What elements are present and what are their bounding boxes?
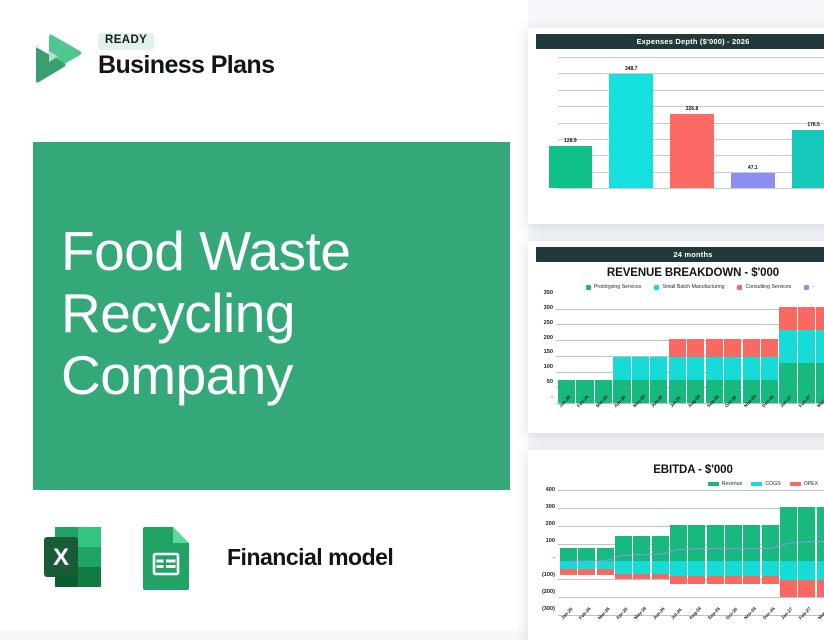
legend-item: Small Batch Manufacturing: [654, 284, 724, 290]
play-triangles-logo-icon: [28, 27, 85, 84]
legend-label: Small Batch Manufacturing: [662, 284, 724, 290]
legend-label: -: [812, 284, 814, 290]
bar: [609, 74, 653, 188]
bar-segment: [724, 339, 741, 358]
x-axis: Jan-26Feb-26Mar-26Apr-26May-26Jun-26Jul-…: [556, 403, 824, 429]
x-axis: Jan-26Feb-26Mar-26Apr-26May-26Jun-26Jul-…: [558, 615, 824, 640]
y-tick: 400: [534, 487, 558, 493]
chart-card-ebitda[interactable]: EBITDA - $'000 Revenue COGS OPEX 0 400: [528, 450, 824, 640]
bar-group: 226.8: [662, 57, 723, 188]
bar-stack: [558, 293, 575, 403]
legend-swatch-icon: [586, 285, 591, 290]
zero-trend-line: [558, 490, 824, 615]
legend-swatch-icon: [654, 285, 659, 290]
bar-segment: [798, 330, 815, 363]
bar-segment: [779, 330, 796, 363]
bar-label: 348.7: [625, 66, 638, 72]
y-axis: 350 300 250 200 150 100 50 -: [534, 293, 556, 403]
ebitda-plot: 400 300 200 100 - (100) (200) (300): [534, 490, 824, 615]
y-tick: 150: [534, 349, 556, 355]
revenue-legend: Prototyping Services Small Batch Manufac…: [528, 284, 824, 290]
chart-card-expenses-depth[interactable]: Expenses Depth ($'000) - 2026 128.9: [528, 28, 824, 224]
bar-segment: [687, 339, 704, 358]
bar-group: 176.5: [783, 57, 824, 188]
bar-stack: [816, 293, 824, 403]
bar-stack: [779, 293, 796, 403]
bar-label: 47.1: [748, 165, 758, 171]
bar-stack: [687, 293, 704, 403]
bar-stack: [613, 293, 630, 403]
bar-segment: [687, 357, 704, 379]
legend-swatch-icon: [790, 482, 801, 486]
bar-label: 128.9: [564, 138, 577, 144]
y-tick: 350: [534, 290, 556, 296]
bar-stack: [706, 293, 723, 403]
legend-swatch-icon: [737, 285, 742, 290]
bar-stack: [595, 293, 612, 403]
chart-card-revenue-breakdown[interactable]: 24 months REVENUE BREAKDOWN - $'000 Prot…: [528, 241, 824, 433]
bar-segment: [798, 307, 815, 330]
bar-segment: [669, 339, 686, 358]
y-tick: 200: [534, 335, 556, 341]
legend-label: Revenue: [722, 481, 743, 487]
bar-stack: [650, 293, 667, 403]
bar-label: 226.8: [686, 106, 699, 112]
bar-segment: [650, 357, 667, 379]
legend-label: Prototyping Services: [594, 284, 642, 290]
legend-label: OPEX: [804, 481, 818, 487]
bar-segment: [706, 357, 723, 379]
bar-label: 176.5: [807, 122, 820, 128]
y-tick: (100): [534, 572, 558, 578]
legend-label: Consulting Services: [745, 284, 791, 290]
expenses-bars: 128.9 348.7 226.8 47.1 176.5: [536, 57, 824, 188]
bar-segment: [669, 357, 686, 379]
bar-segment: [743, 357, 760, 379]
bar-segment: [724, 357, 741, 379]
bar-segment: [743, 339, 760, 358]
expenses-depth-plot: 128.9 348.7 226.8 47.1 176.5: [536, 57, 824, 188]
hero-block: Food Waste Recycling Company: [33, 142, 510, 490]
bar-stack: [743, 293, 760, 403]
legend-label: COGS: [765, 481, 780, 487]
bar: [792, 130, 824, 188]
bar: [549, 146, 593, 188]
legend-swatch-icon: [708, 482, 719, 486]
y-tick: (300): [534, 606, 558, 612]
footer-row: X Financial model: [33, 518, 393, 597]
ebitda-legend: Revenue COGS OPEX 0: [528, 481, 824, 487]
bar-stack: [798, 293, 815, 403]
bar-stack: [724, 293, 741, 403]
bar-group: 128.9: [540, 57, 601, 188]
y-tick: 100: [534, 364, 556, 370]
legend-item: COGS: [751, 481, 780, 487]
y-tick: 250: [534, 320, 556, 326]
bar-stack: [669, 293, 686, 403]
chart-title: EBITDA - $'000: [528, 464, 824, 476]
page-title: Food Waste Recycling Company: [61, 220, 490, 406]
y-tick: 100: [534, 538, 558, 544]
bar-segment: [816, 330, 824, 363]
bar: [731, 173, 775, 188]
legend-swatch-icon: [804, 285, 809, 290]
svg-text:X: X: [53, 544, 69, 571]
bar-stack: [632, 293, 649, 403]
microsoft-excel-icon: X: [33, 518, 112, 597]
y-tick: 300: [534, 504, 558, 510]
brand-text: READY Business Plans: [98, 33, 274, 78]
legend-item: Prototyping Services: [586, 284, 642, 290]
y-tick: 200: [534, 521, 558, 527]
y-tick: (200): [534, 589, 558, 595]
bar-segment: [761, 339, 778, 358]
chart-title: REVENUE BREAKDOWN - $'000: [528, 267, 824, 279]
bar-stack: [576, 293, 593, 403]
y-tick: 300: [534, 305, 556, 311]
bar-segment: [761, 357, 778, 379]
chart-title-bar: Expenses Depth ($'000) - 2026: [536, 34, 824, 49]
bar-stack: [761, 293, 778, 403]
revenue-bars: [556, 293, 824, 403]
legend-item: OPEX: [790, 481, 818, 487]
bar-group: 47.1: [722, 57, 783, 188]
ready-badge: READY: [98, 33, 154, 50]
bar-segment: [613, 357, 630, 379]
y-tick: -: [534, 555, 558, 561]
bar-segment: [816, 307, 824, 330]
legend-swatch-icon: [751, 482, 762, 486]
bar-group: 348.7: [601, 57, 662, 188]
legend-item: Consulting Services: [737, 284, 791, 290]
google-sheets-icon: [126, 518, 205, 597]
y-tick: -: [534, 394, 556, 400]
legend-item: -: [804, 284, 814, 290]
footer-label: Financial model: [227, 544, 393, 571]
brand-name: Business Plans: [98, 52, 274, 78]
y-tick: 50: [534, 379, 556, 385]
legend-item: Revenue: [708, 481, 743, 487]
months-header: 24 months: [536, 247, 824, 262]
brand-lockup: READY Business Plans: [28, 27, 274, 84]
y-axis: 400 300 200 100 - (100) (200) (300): [534, 490, 558, 615]
bar-segment: [632, 357, 649, 379]
bar-segment: [779, 307, 796, 330]
bar: [670, 114, 714, 188]
bar-segment: [706, 339, 723, 358]
revenue-plot: 350 300 250 200 150 100 50 - Jan-26Feb-2…: [534, 293, 824, 403]
poster-canvas: READY Business Plans Food Waste Recyclin…: [0, 0, 824, 631]
